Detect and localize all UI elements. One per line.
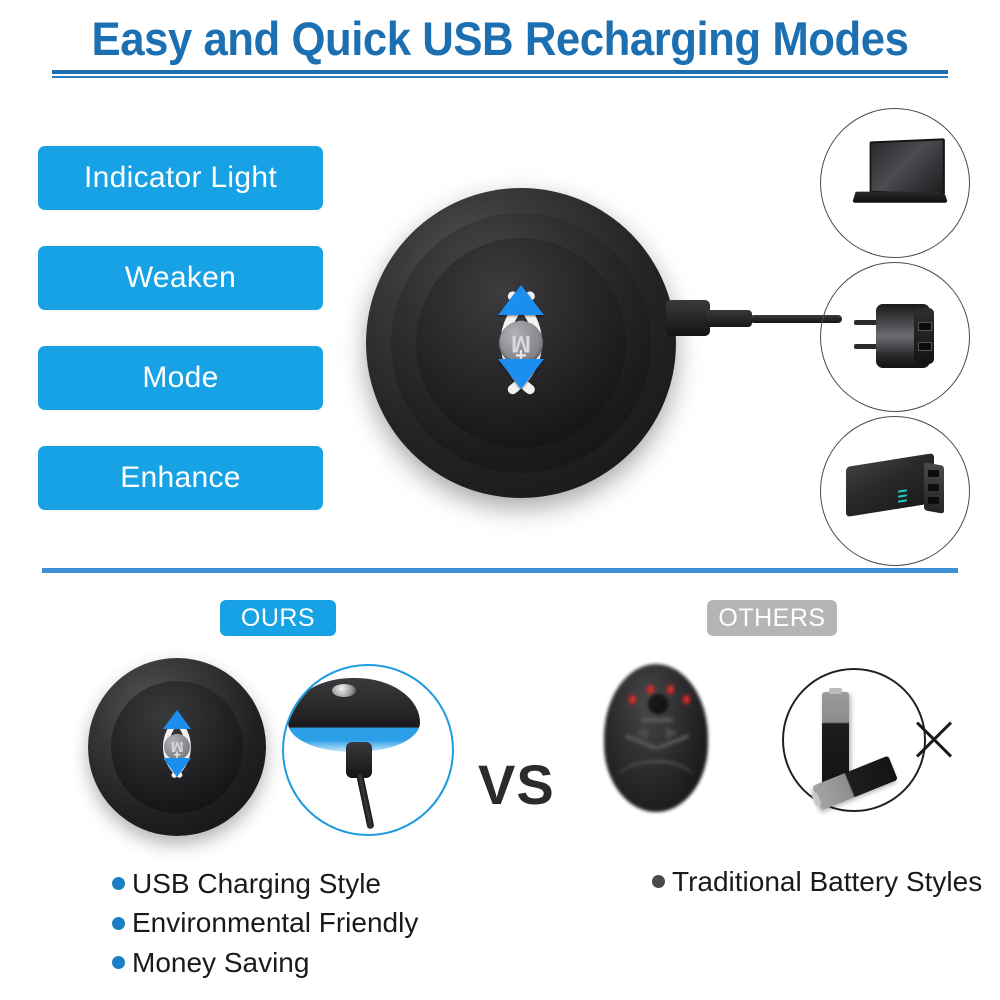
red-led-icon: [668, 686, 673, 693]
usb-port: [918, 342, 932, 351]
adapter-face: [914, 308, 934, 364]
competitor-device-bar: [641, 718, 673, 722]
competitor-device-center: [648, 694, 668, 714]
list-item: Money Saving: [112, 947, 512, 978]
ours-device-image: - M +: [88, 658, 266, 836]
laptop-screen: [870, 138, 945, 195]
usb-port: [918, 322, 932, 331]
list-item-label: Environmental Friendly: [132, 907, 418, 938]
others-drawbacks-list: Traditional Battery Styles: [652, 866, 982, 905]
feature-label-weaken[interactable]: Weaken: [38, 246, 323, 310]
bullet-dot-icon: [112, 917, 125, 930]
badge-ours-label: OURS: [241, 604, 315, 633]
competitor-device-image: [604, 664, 708, 812]
closeup-device-lens: [332, 684, 356, 697]
red-led-icon: [630, 696, 635, 703]
list-item: USB Charging Style: [112, 868, 512, 899]
laptop-base: [852, 192, 947, 203]
list-item: Environmental Friendly: [112, 907, 512, 938]
usb-wall-charger-icon: [852, 300, 944, 372]
vs-label: VS: [478, 752, 555, 817]
list-item-label: Money Saving: [132, 947, 309, 978]
feature-label-list: Indicator Light Weaken Mode Enhance: [38, 146, 323, 546]
closeup-usb-cable: [356, 773, 374, 829]
bullet-dot-icon: [112, 877, 125, 890]
title-underline-thin: [52, 76, 948, 78]
ours-benefits-list: USB Charging Style Environmental Friendl…: [112, 868, 512, 986]
feature-label-text: Mode: [142, 361, 218, 395]
usb-port-closeup-circle: [282, 664, 454, 836]
ours-device-face: - M +: [111, 681, 243, 813]
red-led-icon: [648, 686, 653, 693]
power-bank-port: [928, 484, 939, 491]
competitor-device-curve: [616, 760, 696, 803]
feature-label-text: Indicator Light: [84, 161, 277, 195]
battery-cap: [829, 688, 842, 694]
usb-plug: [666, 300, 710, 336]
plug-prong: [854, 320, 878, 325]
page-title: Easy and Quick USB Recharging Modes: [35, 14, 965, 63]
bullet-dot-icon: [652, 875, 665, 888]
power-bank-port: [928, 497, 939, 504]
section-divider: [42, 568, 958, 573]
red-led-icon: [684, 696, 689, 703]
infographic-page: Easy and Quick USB Recharging Modes Indi…: [0, 0, 1000, 1000]
laptop-icon: [852, 140, 948, 214]
badge-ours: OURS: [220, 600, 336, 636]
triangle-down-icon: [163, 758, 191, 777]
feature-label-indicator-light[interactable]: Indicator Light: [38, 146, 323, 210]
battery-cap: [811, 792, 821, 806]
x-mark-icon: [910, 716, 958, 764]
feature-label-text: Enhance: [120, 461, 241, 495]
power-bank-body: [846, 453, 934, 517]
list-item: Traditional Battery Styles: [652, 866, 982, 897]
list-item-label: Traditional Battery Styles: [672, 866, 982, 897]
device-face: - M +: [416, 238, 627, 449]
page-title-wrap: Easy and Quick USB Recharging Modes: [0, 14, 1000, 63]
feature-label-mode[interactable]: Mode: [38, 346, 323, 410]
badge-others: OTHERS: [707, 600, 837, 636]
power-bank-port: [928, 470, 939, 477]
main-device-image: - M +: [366, 188, 676, 498]
closeup-usb-plug: [346, 742, 372, 778]
badge-others-label: OTHERS: [718, 604, 825, 633]
feature-label-enhance[interactable]: Enhance: [38, 446, 323, 510]
usb-cable-segment-a: [706, 310, 752, 327]
triangle-down-icon[interactable]: [498, 359, 544, 389]
closeup-device-body: [288, 678, 420, 752]
plug-prong: [854, 344, 878, 349]
list-item-label: USB Charging Style: [132, 868, 381, 899]
feature-label-text: Weaken: [125, 261, 236, 295]
bullet-dot-icon: [112, 956, 125, 969]
title-underline-thick: [52, 70, 948, 74]
power-bank-icon: [846, 452, 950, 522]
